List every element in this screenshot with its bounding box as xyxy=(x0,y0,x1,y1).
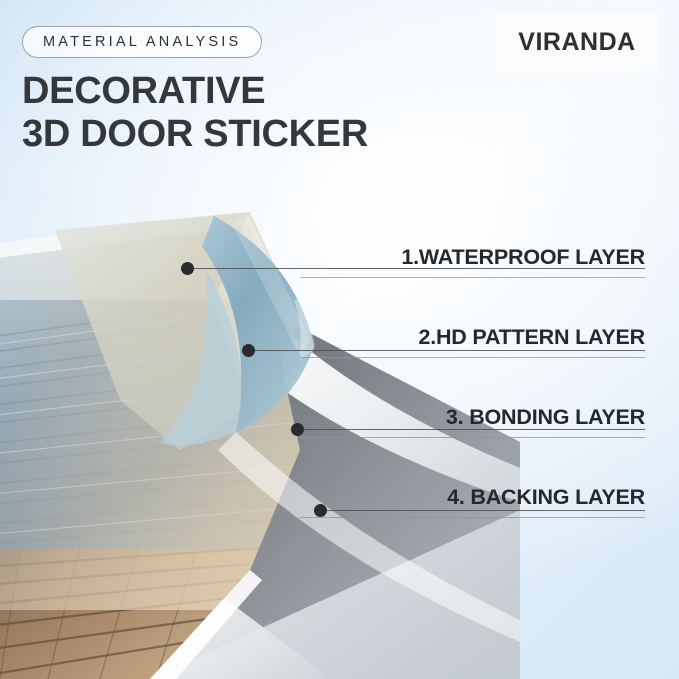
layer-underline-backing xyxy=(300,517,645,518)
leader-line-pattern xyxy=(253,350,645,351)
page-title: DECORATIVE 3D DOOR STICKER xyxy=(22,70,368,156)
page-title-line-1: DECORATIVE xyxy=(22,70,265,112)
callout-dot-backing xyxy=(314,504,327,517)
material-analysis-badge: MATERIAL ANALYSIS xyxy=(22,26,262,58)
brand-logo-box: VIRANDA xyxy=(497,14,657,70)
leader-line-bonding xyxy=(302,429,645,430)
callout-dot-waterproof xyxy=(181,262,194,275)
leader-line-waterproof xyxy=(192,268,645,269)
callout-dot-pattern xyxy=(242,344,255,357)
layer-label-bonding: 3. BONDING LAYER xyxy=(446,405,645,430)
layer-underline-waterproof xyxy=(300,277,645,278)
callout-dot-bonding xyxy=(291,423,304,436)
layer-underline-pattern xyxy=(300,357,645,358)
brand-name: VIRANDA xyxy=(518,28,635,57)
layer-label-waterproof: 1.WATERPROOF LAYER xyxy=(401,245,645,270)
layer-label-pattern: 2.HD PATTERN LAYER xyxy=(418,325,645,350)
sticker-illustration xyxy=(0,150,520,679)
layer-underline-bonding xyxy=(300,437,645,438)
infographic-canvas: MATERIAL ANALYSIS DECORATIVE 3D DOOR STI… xyxy=(0,0,679,679)
layer-label-backing: 4. BACKING LAYER xyxy=(447,485,645,510)
leader-line-backing xyxy=(325,510,645,511)
page-title-line-2: 3D DOOR STICKER xyxy=(22,113,368,156)
